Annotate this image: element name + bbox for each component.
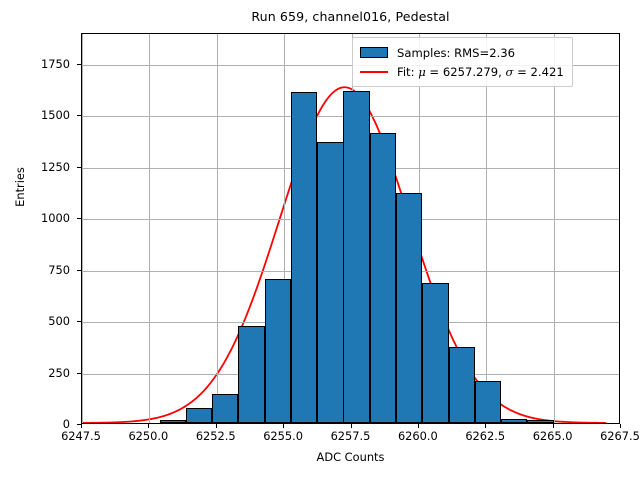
y-axis-tick-label: 1500 bbox=[0, 108, 70, 122]
y-axis-label: Entries bbox=[13, 97, 27, 277]
plot-area bbox=[81, 33, 620, 424]
y-axis-tick-mark bbox=[77, 373, 81, 374]
x-axis-label: ADC Counts bbox=[81, 450, 620, 464]
histogram-bar bbox=[475, 381, 501, 423]
legend-fit-mu-symbol: μ bbox=[418, 65, 426, 79]
legend-line-swatch-icon bbox=[360, 66, 388, 77]
y-axis-tick-mark bbox=[77, 424, 81, 425]
y-axis-tick-label: 750 bbox=[0, 263, 70, 277]
x-axis-tick-mark bbox=[418, 424, 419, 428]
x-axis-tick-mark bbox=[485, 424, 486, 428]
grid-line-vertical bbox=[217, 34, 218, 423]
y-axis-tick-label: 500 bbox=[0, 314, 70, 328]
x-axis-tick-label: 6255.0 bbox=[248, 429, 318, 443]
x-axis-tick-mark bbox=[553, 424, 554, 428]
grid-line-vertical bbox=[486, 34, 487, 423]
legend-fit-mu-value: = 6257.279, bbox=[426, 65, 506, 79]
x-axis-tick-mark bbox=[81, 424, 82, 428]
histogram-bar bbox=[449, 347, 475, 423]
histogram-bar bbox=[212, 394, 238, 423]
y-axis-tick-label: 1000 bbox=[0, 211, 70, 225]
histogram-bar bbox=[422, 283, 448, 423]
x-axis-tick-mark bbox=[148, 424, 149, 428]
legend-item-fit: Fit: μ = 6257.279, σ = 2.421 bbox=[360, 62, 564, 81]
histogram-bar bbox=[501, 419, 527, 423]
legend-item-fit-label: Fit: μ = 6257.279, σ = 2.421 bbox=[397, 65, 564, 79]
y-axis-tick-label: 0 bbox=[0, 417, 70, 431]
figure-canvas: Run 659, channel016, Pedestal ADC Counts… bbox=[0, 0, 640, 480]
y-axis-tick-mark bbox=[77, 167, 81, 168]
x-axis-tick-mark bbox=[283, 424, 284, 428]
histogram-bar bbox=[396, 193, 422, 423]
x-axis-tick-mark bbox=[620, 424, 621, 428]
y-axis-tick-mark bbox=[77, 270, 81, 271]
y-axis-tick-label: 1750 bbox=[0, 57, 70, 71]
grid-line-vertical bbox=[149, 34, 150, 423]
grid-line-vertical bbox=[82, 34, 83, 423]
legend: Samples: RMS=2.36 Fit: μ = 6257.279, σ =… bbox=[352, 37, 573, 87]
grid-line-vertical bbox=[554, 34, 555, 423]
histogram-bar bbox=[186, 408, 212, 423]
histogram-bar bbox=[238, 326, 264, 423]
histogram-bar bbox=[343, 91, 369, 423]
x-axis-tick-mark bbox=[216, 424, 217, 428]
x-axis-tick-label: 6267.5 bbox=[585, 429, 640, 443]
histogram-bar bbox=[370, 133, 396, 423]
x-axis-tick-label: 6247.5 bbox=[46, 429, 116, 443]
histogram-bar bbox=[160, 420, 186, 423]
y-axis-tick-mark bbox=[77, 321, 81, 322]
y-axis-tick-mark bbox=[77, 115, 81, 116]
legend-item-samples: Samples: RMS=2.36 bbox=[360, 43, 564, 62]
x-axis-tick-mark bbox=[351, 424, 352, 428]
x-axis-tick-label: 6262.5 bbox=[450, 429, 520, 443]
legend-item-samples-label: Samples: RMS=2.36 bbox=[397, 46, 515, 60]
page-title: Run 659, channel016, Pedestal bbox=[81, 9, 620, 24]
y-axis-tick-label: 1250 bbox=[0, 160, 70, 174]
legend-fit-sigma-value: = 2.421 bbox=[513, 65, 563, 79]
histogram-bar bbox=[291, 92, 317, 423]
legend-fit-prefix: Fit: bbox=[397, 65, 418, 79]
y-axis-tick-label: 250 bbox=[0, 366, 70, 380]
x-axis-tick-label: 6252.5 bbox=[181, 429, 251, 443]
histogram-bar bbox=[265, 279, 291, 423]
x-axis-tick-label: 6260.0 bbox=[383, 429, 453, 443]
legend-patch-swatch-icon bbox=[360, 47, 388, 58]
y-axis-tick-mark bbox=[77, 218, 81, 219]
y-axis-tick-mark bbox=[77, 64, 81, 65]
x-axis-tick-label: 6265.0 bbox=[518, 429, 588, 443]
histogram-bar bbox=[527, 420, 553, 423]
histogram-bar bbox=[317, 142, 343, 423]
x-axis-tick-label: 6250.0 bbox=[113, 429, 183, 443]
x-axis-tick-label: 6257.5 bbox=[316, 429, 386, 443]
